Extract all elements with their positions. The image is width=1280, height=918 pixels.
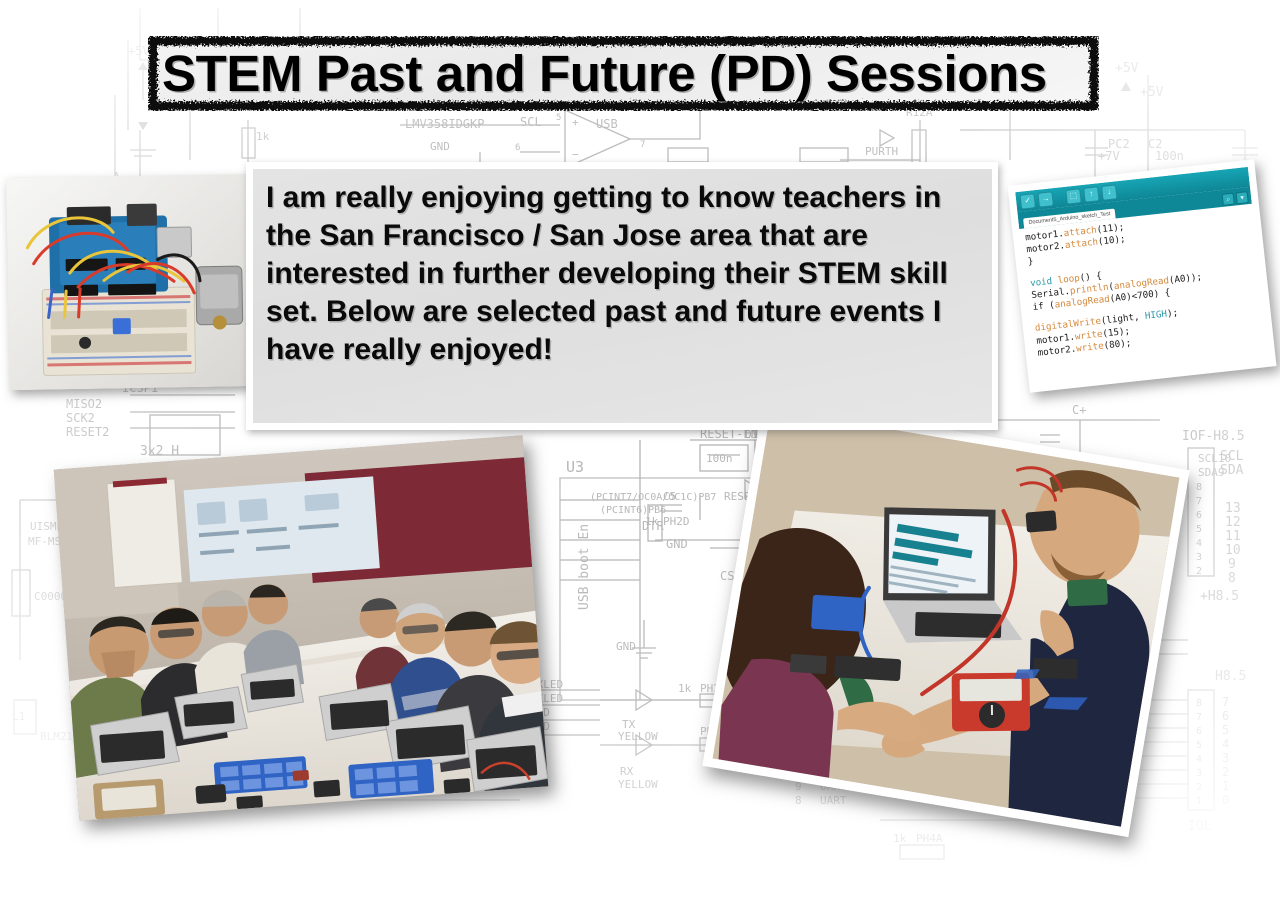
svg-text:100n: 100n	[1155, 149, 1184, 163]
tabbar-icons: ⌕ ▾	[1222, 191, 1249, 206]
new-button[interactable]: ⬚	[1065, 188, 1082, 205]
svg-text:3: 3	[1196, 768, 1202, 779]
code-token: (A0));	[1168, 271, 1202, 286]
svg-text:+5V: +5V	[1140, 85, 1164, 100]
svg-text:0: 0	[1222, 793, 1229, 807]
slide-canvas: +5V A A LMV358IDGKP SCL USB + − 5 7 6	[0, 0, 1280, 918]
code-token: (10);	[1097, 234, 1126, 248]
svg-text:IOL: IOL	[1188, 819, 1212, 834]
code-token: loop	[1057, 272, 1080, 285]
svg-text:DTR: DTR	[642, 519, 664, 533]
svg-text:IOF-H8.5: IOF-H8.5	[1182, 429, 1245, 444]
body-text-inner: I am really enjoying getting to know tea…	[253, 169, 992, 423]
svg-text:+H8.5: +H8.5	[1200, 589, 1239, 604]
code-token: () {	[1079, 270, 1102, 283]
svg-text:2: 2	[1196, 566, 1202, 577]
code-token: if (	[1032, 300, 1055, 313]
svg-text:8: 8	[1196, 482, 1202, 493]
code-token: HIGH	[1144, 309, 1167, 322]
save-button[interactable]: ↓	[1101, 184, 1118, 201]
svg-text:3: 3	[1222, 751, 1229, 765]
svg-text:4: 4	[1196, 538, 1202, 549]
svg-text:4: 4	[1196, 754, 1202, 765]
svg-text:C5: C5	[663, 490, 676, 503]
svg-text:GND: GND	[616, 640, 636, 653]
code-token: }	[1027, 256, 1034, 268]
svg-text:100n: 100n	[706, 452, 733, 465]
svg-text:SCL10: SCL10	[1198, 452, 1231, 465]
svg-text:−: −	[572, 148, 579, 161]
svg-text:+5V: +5V	[128, 44, 150, 58]
svg-text:8: 8	[795, 794, 802, 807]
body-paragraph: I am really enjoying getting to know tea…	[266, 179, 988, 369]
svg-text:BLM21: BLM21	[40, 730, 73, 743]
svg-text:2: 2	[1222, 765, 1229, 779]
svg-text:LMV358IDGKP: LMV358IDGKP	[405, 117, 484, 131]
svg-text:YELLOW: YELLOW	[618, 778, 658, 791]
chevron-down-icon[interactable]: ▾	[1236, 191, 1249, 204]
svg-text:7: 7	[1196, 712, 1202, 723]
svg-text:1: 1	[1196, 796, 1202, 807]
svg-text:RX: RX	[620, 765, 634, 778]
page-title: STEM Past and Future (PD) Sessions	[162, 48, 1047, 99]
arduino-breadboard-illustration	[6, 174, 258, 390]
svg-text:5: 5	[1222, 723, 1229, 737]
svg-text:5: 5	[556, 113, 561, 123]
instructor-student-photo	[702, 399, 1189, 837]
svg-text:8: 8	[1228, 571, 1236, 586]
svg-text:+: +	[572, 116, 579, 129]
svg-text:UART: UART	[820, 794, 847, 807]
svg-text:SCL: SCL	[520, 115, 542, 129]
svg-text:9: 9	[1228, 557, 1236, 572]
svg-text:12: 12	[1225, 515, 1241, 530]
arduino-breadboard-photo	[6, 174, 258, 390]
svg-text:5: 5	[1196, 524, 1202, 535]
svg-text:1k: 1k	[256, 130, 270, 143]
toolbar-separator	[1056, 197, 1063, 198]
svg-text:6: 6	[1222, 709, 1229, 723]
svg-text:10: 10	[1225, 543, 1241, 558]
svg-text:MISO2: MISO2	[66, 397, 102, 411]
body-text-box: I am really enjoying getting to know tea…	[246, 162, 998, 430]
svg-text:7: 7	[1196, 496, 1202, 507]
svg-text:PH4A: PH4A	[916, 832, 943, 845]
slide-title-box: STEM Past and Future (PD) Sessions	[148, 36, 1099, 111]
svg-text:SDA9: SDA9	[1198, 466, 1225, 479]
svg-text:USB: USB	[596, 117, 618, 131]
svg-text:6: 6	[1196, 510, 1202, 521]
svg-text:(PCINT7/OC0A/OC1C)PB7: (PCINT7/OC0A/OC1C)PB7	[590, 492, 716, 503]
svg-text:GND: GND	[666, 537, 688, 551]
teacher-workshop-photo	[54, 435, 549, 820]
code-token: );	[1166, 308, 1178, 320]
svg-text:U3: U3	[566, 458, 584, 476]
svg-text:1k: 1k	[893, 832, 907, 845]
svg-text:5: 5	[1196, 740, 1202, 751]
open-button[interactable]: ↑	[1083, 186, 1100, 203]
svg-text:H8.5: H8.5	[1215, 669, 1246, 684]
code-token: write	[1076, 340, 1105, 354]
arduino-ide-screenshot: ✓ → ⬚ ↑ ↓ Document5_Arduino_sketch_Test …	[1007, 159, 1276, 393]
svg-text:PH2D: PH2D	[663, 515, 690, 528]
svg-text:+5V: +5V	[1115, 61, 1139, 76]
svg-text:RESET2: RESET2	[66, 425, 109, 439]
svg-text:8: 8	[1196, 698, 1202, 709]
code-editor-area[interactable]: motor1.attach(11);motor2.attach(10);} vo…	[1019, 204, 1266, 365]
search-icon[interactable]: ⌕	[1222, 193, 1235, 206]
instructor-student-illustration	[713, 409, 1180, 826]
upload-button[interactable]: →	[1037, 191, 1054, 208]
svg-text:6: 6	[515, 143, 520, 153]
svg-text:7: 7	[640, 140, 645, 150]
svg-text:3: 3	[1196, 552, 1202, 563]
verify-button[interactable]: ✓	[1019, 193, 1036, 210]
svg-text:3x2 H: 3x2 H	[140, 444, 179, 459]
svg-text:13: 13	[1225, 501, 1241, 516]
code-token: (80);	[1103, 337, 1132, 351]
svg-text:1: 1	[1222, 779, 1229, 793]
svg-text:GND: GND	[430, 140, 450, 153]
instructor-student-photo-inner	[713, 409, 1180, 826]
arduino-ide-window: ✓ → ⬚ ↑ ↓ Document5_Arduino_sketch_Test …	[1015, 167, 1268, 383]
svg-text:C+: C+	[1072, 403, 1086, 417]
svg-text:1k: 1k	[678, 682, 692, 695]
svg-text:4: 4	[1222, 737, 1229, 751]
workshop-illustration	[54, 435, 549, 820]
svg-text:YELLOW: YELLOW	[618, 730, 658, 743]
svg-text:SCK2: SCK2	[66, 411, 95, 425]
svg-text:USB boot En: USB boot En	[577, 524, 592, 610]
svg-text:+7V: +7V	[1098, 149, 1120, 163]
svg-text:7: 7	[1222, 695, 1229, 709]
svg-text:11: 11	[1225, 529, 1241, 544]
svg-text:PURTH: PURTH	[865, 145, 898, 158]
svg-text:2: 2	[1196, 782, 1202, 793]
svg-text:6: 6	[1196, 726, 1202, 737]
